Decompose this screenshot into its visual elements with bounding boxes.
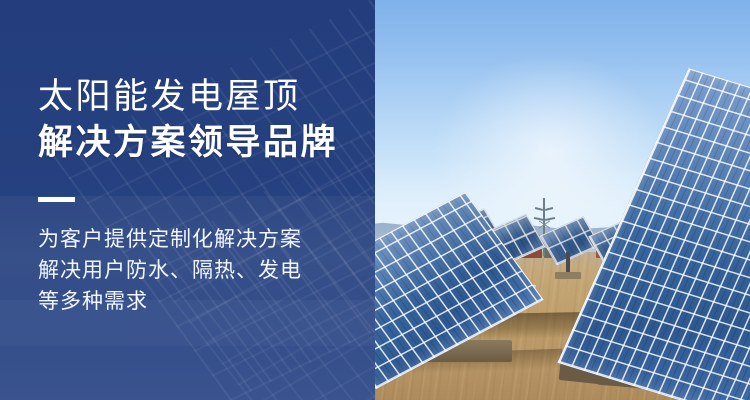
solar-roof-promo-banner: 太阳能发电屋顶 解决方案领导品牌 为客户提供定制化解决方案 解决用户防水、隔热、…	[0, 0, 750, 400]
body-line-2: 解决用户防水、隔热、发电	[38, 255, 368, 286]
banner-copy: 太阳能发电屋顶 解决方案领导品牌 为客户提供定制化解决方案 解决用户防水、隔热、…	[38, 0, 368, 400]
tracker-row-3	[546, 224, 594, 258]
body-copy: 为客户提供定制化解决方案 解决用户防水、隔热、发电 等多种需求	[38, 224, 368, 317]
headline-divider	[38, 197, 75, 202]
body-line-1: 为客户提供定制化解决方案	[38, 224, 368, 255]
body-line-3: 等多种需求	[38, 286, 368, 317]
headline-line-2: 解决方案领导品牌	[38, 122, 338, 164]
headline-line-1: 太阳能发电屋顶	[38, 76, 301, 118]
